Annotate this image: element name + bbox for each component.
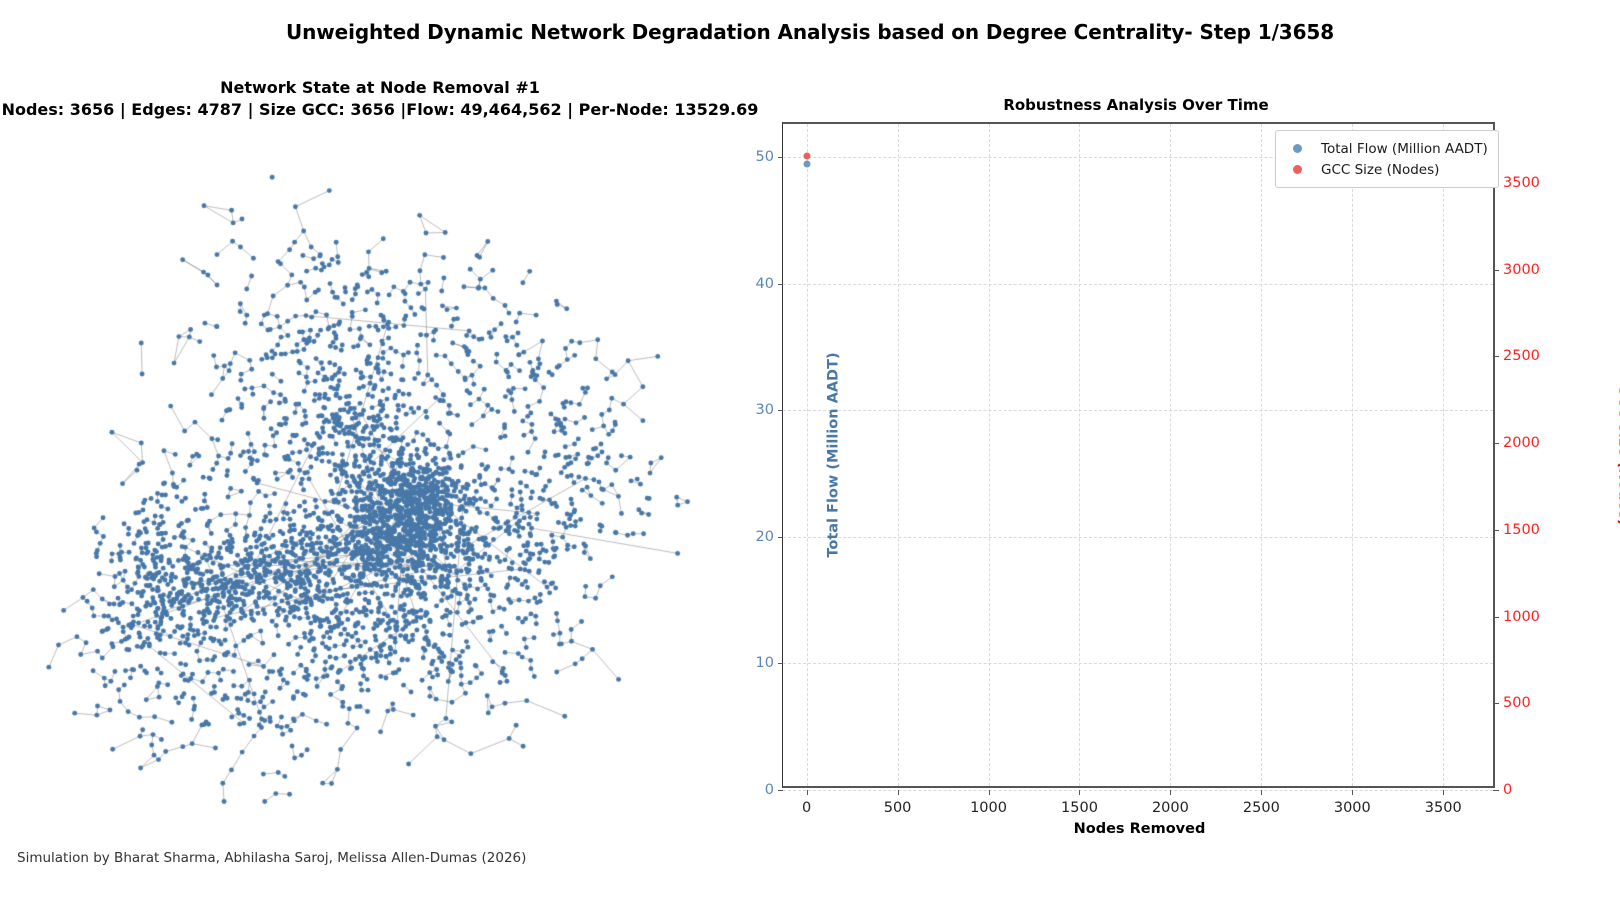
x-tick-label: 0	[802, 800, 811, 816]
y-tick-mark-right	[1493, 617, 1499, 618]
y-tick-mark-right	[1493, 530, 1499, 531]
data-point	[803, 160, 810, 167]
chart-title: Robustness Analysis Over Time	[779, 96, 1493, 114]
y-tick-mark-right	[1493, 270, 1499, 271]
y-tick-label-right: 1500	[1503, 522, 1540, 538]
y-tick-mark-right	[1493, 703, 1499, 704]
y-tick-mark-left	[778, 410, 783, 411]
x-tick-mark	[989, 790, 990, 795]
x-tick-mark	[898, 790, 899, 795]
x-tick-label: 1500	[1061, 800, 1098, 816]
legend-item[interactable]: Total Flow (Million AADT)	[1284, 138, 1488, 159]
x-tick-label: 1000	[970, 800, 1007, 816]
grid-line-vertical	[1079, 124, 1080, 786]
y-axis-right-label: GCC Size (Nodes)	[1616, 384, 1620, 525]
x-tick-mark	[1352, 790, 1353, 795]
grid-line-vertical	[1443, 124, 1444, 786]
legend-item-label: GCC Size (Nodes)	[1321, 162, 1439, 178]
y-tick-mark-left	[778, 537, 783, 538]
figure-footer: Simulation by Bharat Sharma, Abhilasha S…	[17, 850, 526, 866]
x-tick-label: 3500	[1425, 800, 1462, 816]
grid-line-vertical	[898, 124, 899, 786]
y-tick-mark-left	[778, 157, 783, 158]
y-tick-mark-right	[1493, 443, 1499, 444]
x-tick-label: 2500	[1243, 800, 1280, 816]
grid-line-vertical	[1261, 124, 1262, 786]
y-tick-label-left: 30	[756, 402, 774, 418]
grid-line-horizontal	[783, 284, 1493, 285]
y-tick-label-left: 0	[765, 782, 774, 798]
y-tick-label-right: 2000	[1503, 435, 1540, 451]
grid-line-horizontal	[783, 410, 1493, 411]
y-tick-label-right: 2500	[1503, 348, 1540, 364]
robustness-chart-panel: Robustness Analysis Over Time 0500100015…	[782, 96, 1496, 846]
y-tick-label-left: 50	[756, 149, 774, 165]
chart-legend[interactable]: Total Flow (Million AADT)GCC Size (Nodes…	[1275, 130, 1499, 188]
x-axis-label: Nodes Removed	[783, 821, 1496, 837]
y-tick-label-right: 500	[1503, 695, 1531, 711]
y-tick-mark-right	[1493, 790, 1499, 791]
grid-line-horizontal	[783, 663, 1493, 664]
plot-area: 0500100015002000250030003500 01020304050…	[782, 122, 1495, 788]
y-tick-label-right: 0	[1503, 782, 1512, 798]
y-tick-label-right: 1000	[1503, 609, 1540, 625]
grid-line-vertical	[1170, 124, 1171, 786]
y-tick-label-right: 3000	[1503, 262, 1540, 278]
network-graph	[0, 126, 760, 816]
x-tick-mark	[807, 790, 808, 795]
x-tick-label: 500	[884, 800, 912, 816]
data-point	[803, 152, 810, 159]
network-panel: Network State at Node Removal #1 Nodes: …	[0, 78, 760, 818]
grid-line-horizontal	[783, 537, 1493, 538]
y-axis-left-label: Total Flow (Million AADT)	[826, 352, 842, 557]
x-tick-mark	[1443, 790, 1444, 795]
x-tick-label: 3000	[1334, 800, 1371, 816]
x-tick-mark	[1261, 790, 1262, 795]
x-tick-mark	[1079, 790, 1080, 795]
y-tick-mark-right	[1493, 356, 1499, 357]
x-tick-mark	[1170, 790, 1171, 795]
y-tick-mark-left	[778, 663, 783, 664]
figure-suptitle: Unweighted Dynamic Network Degradation A…	[0, 20, 1620, 44]
y-tick-label-left: 10	[756, 655, 774, 671]
legend-item-label: Total Flow (Million AADT)	[1321, 141, 1488, 157]
y-tick-label-left: 20	[756, 529, 774, 545]
legend-item[interactable]: GCC Size (Nodes)	[1284, 159, 1488, 180]
y-tick-mark-left	[778, 284, 783, 285]
legend-marker-icon	[1293, 165, 1302, 174]
x-tick-label: 2000	[1152, 800, 1189, 816]
network-panel-title: Network State at Node Removal #1	[0, 78, 760, 97]
y-tick-label-left: 40	[756, 276, 774, 292]
legend-marker-icon	[1293, 144, 1302, 153]
grid-line-vertical	[1352, 124, 1353, 786]
grid-line-horizontal	[783, 790, 1493, 791]
grid-line-vertical	[807, 124, 808, 786]
y-tick-mark-left	[778, 790, 783, 791]
grid-line-vertical	[989, 124, 990, 786]
y-tick-label-right: 3500	[1503, 175, 1540, 191]
network-panel-stats: Nodes: 3656 | Edges: 4787 | Size GCC: 36…	[0, 100, 760, 119]
figure-root: Unweighted Dynamic Network Degradation A…	[0, 0, 1620, 900]
